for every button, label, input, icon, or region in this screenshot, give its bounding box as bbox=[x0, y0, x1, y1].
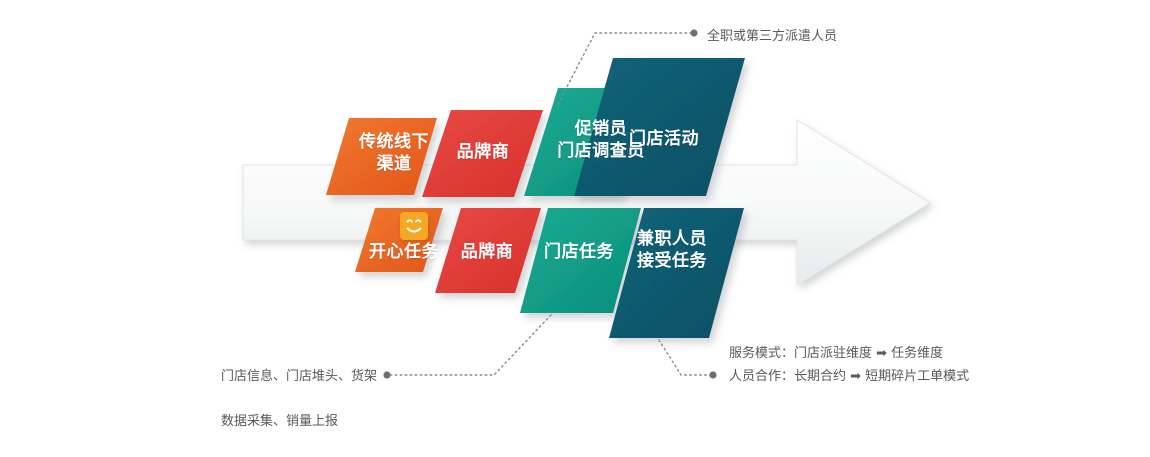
annotation-service-and-cooperation: 服务模式：门店派驻维度 ➡ 任务维度 人员合作：长期合约 ➡ 短期碎片工单模式 bbox=[729, 343, 969, 389]
annotation-service-mode-line: 服务模式：门店派驻维度 ➡ 任务维度 bbox=[729, 343, 969, 366]
annotation-store-data-line-2: 数据采集、销量上报 bbox=[221, 411, 377, 434]
arrow-layer bbox=[0, 0, 1150, 430]
diagram-canvas: 传统线下 渠道 品牌商 促销员 门店调查员 门店活动 开心任务 品牌商 门店任务… bbox=[0, 0, 1150, 430]
annotation-store-data-line-1: 门店信息、门店堆头、货架 bbox=[221, 366, 377, 389]
top-row-blocks bbox=[326, 58, 745, 197]
leader-service-mode bbox=[659, 340, 710, 375]
annotation-store-data-collection: 门店信息、门店堆头、货架 数据采集、销量上报 bbox=[221, 343, 377, 457]
smiley-face-icon bbox=[400, 212, 428, 240]
leader-store-data bbox=[390, 315, 551, 375]
leader-dot-service-mode bbox=[709, 371, 716, 378]
leader-dot-fulltime bbox=[690, 29, 697, 36]
annotation-staff-cooperation-line: 人员合作：长期合约 ➡ 短期碎片工单模式 bbox=[729, 366, 969, 389]
leader-dot-store-data bbox=[383, 371, 390, 378]
annotation-fulltime-or-thirdparty: 全职或第三方派遣人员 bbox=[707, 26, 837, 49]
